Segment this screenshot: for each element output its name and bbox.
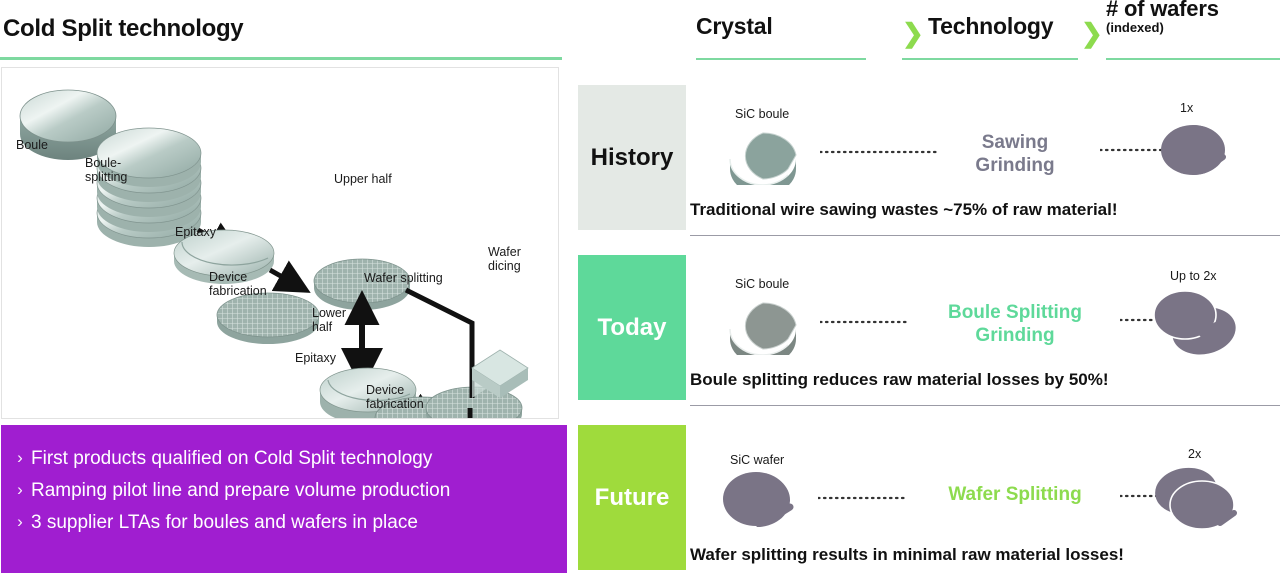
cold-split-process-diagram: Boule Boule- splitting Epitaxy Device fa… xyxy=(1,67,559,419)
dotted-connector-today-1 xyxy=(820,317,910,327)
row-divider xyxy=(690,235,1280,236)
highlight-text: 3 supplier LTAs for boules and wafers in… xyxy=(31,511,418,534)
diagram-label-boule: Boule xyxy=(16,138,48,152)
stage-badge-today: Today xyxy=(578,255,686,400)
flow-future: SiC wafer Wafer Splitting 2x xyxy=(690,425,1276,535)
stage-row-future: Future SiC wafer Wafer Splitting 2x xyxy=(572,425,1280,574)
wafers-caption-future: 2x xyxy=(1188,447,1201,461)
stage-badge-future: Future xyxy=(578,425,686,570)
bullet-chevron-icon: › xyxy=(9,511,31,533)
shape-sic-boule-today xyxy=(725,293,815,355)
wafers-caption-history: 1x xyxy=(1180,101,1193,115)
shape-single-wafer-history xyxy=(1157,121,1233,179)
highlight-text: Ramping pilot line and prepare volume pr… xyxy=(31,479,450,502)
statement-future: Wafer splitting results in minimal raw m… xyxy=(690,545,1124,565)
diagram-label-lower-half: Lower half xyxy=(312,306,346,334)
stage-row-history: History SiC boule Sawing Grinding xyxy=(572,85,1280,237)
shape-sic-boule-history xyxy=(725,123,815,185)
flow-history: SiC boule Sawing Grinding 1x xyxy=(690,85,1276,195)
shape-sic-wafer-future xyxy=(720,469,810,531)
highlight-text: First products qualified on Cold Split t… xyxy=(31,447,432,470)
crystal-caption-history: SiC boule xyxy=(735,107,789,121)
diagram-label-epitaxy-2: Epitaxy xyxy=(295,351,336,365)
slide-root: Cold Split technology xyxy=(0,0,1280,574)
wafers-caption-today: Up to 2x xyxy=(1170,269,1217,283)
diagram-label-device-fab-1: Device fabrication xyxy=(209,270,267,298)
dotted-connector-history-1 xyxy=(820,147,940,157)
header-wafers-sublabel: (indexed) xyxy=(1106,20,1219,35)
technology-label-today: Boule Splitting Grinding xyxy=(915,301,1115,347)
header-wafers-label: # of wafers xyxy=(1106,0,1219,22)
header-technology-label: Technology xyxy=(928,13,1053,40)
shape-double-wafer-today xyxy=(1152,287,1242,357)
bullet-chevron-icon: › xyxy=(9,479,31,501)
stage-row-today: Today SiC boule Boule Splitting Grinding… xyxy=(572,255,1280,407)
header-crystal-underline xyxy=(696,58,866,60)
header-wafers-underline xyxy=(1106,58,1280,60)
header-crystal: Crystal xyxy=(696,13,773,40)
highlights-list: › First products qualified on Cold Split… xyxy=(9,447,561,543)
left-column: Cold Split technology xyxy=(0,0,572,574)
diagram-label-upper-half: Upper half xyxy=(334,172,392,186)
statement-today: Boule splitting reduces raw material los… xyxy=(690,370,1109,390)
header-technology-underline xyxy=(902,58,1078,60)
list-item: › Ramping pilot line and prepare volume … xyxy=(9,479,561,502)
title-underline xyxy=(0,57,562,60)
row-divider xyxy=(690,405,1280,406)
column-header: Crystal ❯ Technology ❯ # of wafers (inde… xyxy=(572,0,1280,70)
shape-double-wafer-future xyxy=(1152,465,1244,537)
diagram-label-boule-splitting: Boule- splitting xyxy=(85,156,127,184)
shape-wafer-dicing xyxy=(472,350,528,398)
diagram-label-wafer-dicing: Wafer dicing xyxy=(488,245,521,273)
header-wafers: # of wafers (indexed) xyxy=(1106,0,1219,35)
statement-history: Traditional wire sawing wastes ~75% of r… xyxy=(690,200,1118,220)
list-item: › 3 supplier LTAs for boules and wafers … xyxy=(9,511,561,534)
right-column: Crystal ❯ Technology ❯ # of wafers (inde… xyxy=(572,0,1280,574)
shape-device-fab-1 xyxy=(217,293,319,344)
bullet-chevron-icon: › xyxy=(9,447,31,469)
crystal-caption-future: SiC wafer xyxy=(730,453,784,467)
header-technology: Technology xyxy=(902,13,1053,40)
page-title: Cold Split technology xyxy=(3,15,243,43)
diagram-label-wafer-splitting: Wafer splitting xyxy=(364,271,443,285)
chevron-right-icon: ❯ xyxy=(1081,20,1103,46)
diagram-label-device-fab-2: Device fabrication xyxy=(366,383,424,411)
crystal-caption-today: SiC boule xyxy=(735,277,789,291)
technology-label-future: Wafer Splitting xyxy=(915,483,1115,506)
header-crystal-label: Crystal xyxy=(696,13,773,40)
stage-badge-history: History xyxy=(578,85,686,230)
technology-label-history: Sawing Grinding xyxy=(940,131,1090,177)
list-item: › First products qualified on Cold Split… xyxy=(9,447,561,470)
dotted-connector-future-1 xyxy=(818,493,908,503)
diagram-label-epitaxy-1: Epitaxy xyxy=(175,225,216,239)
process-diagram-svg xyxy=(2,68,558,418)
flow-today: SiC boule Boule Splitting Grinding Up to… xyxy=(690,255,1276,365)
highlights-callout: › First products qualified on Cold Split… xyxy=(1,425,567,573)
